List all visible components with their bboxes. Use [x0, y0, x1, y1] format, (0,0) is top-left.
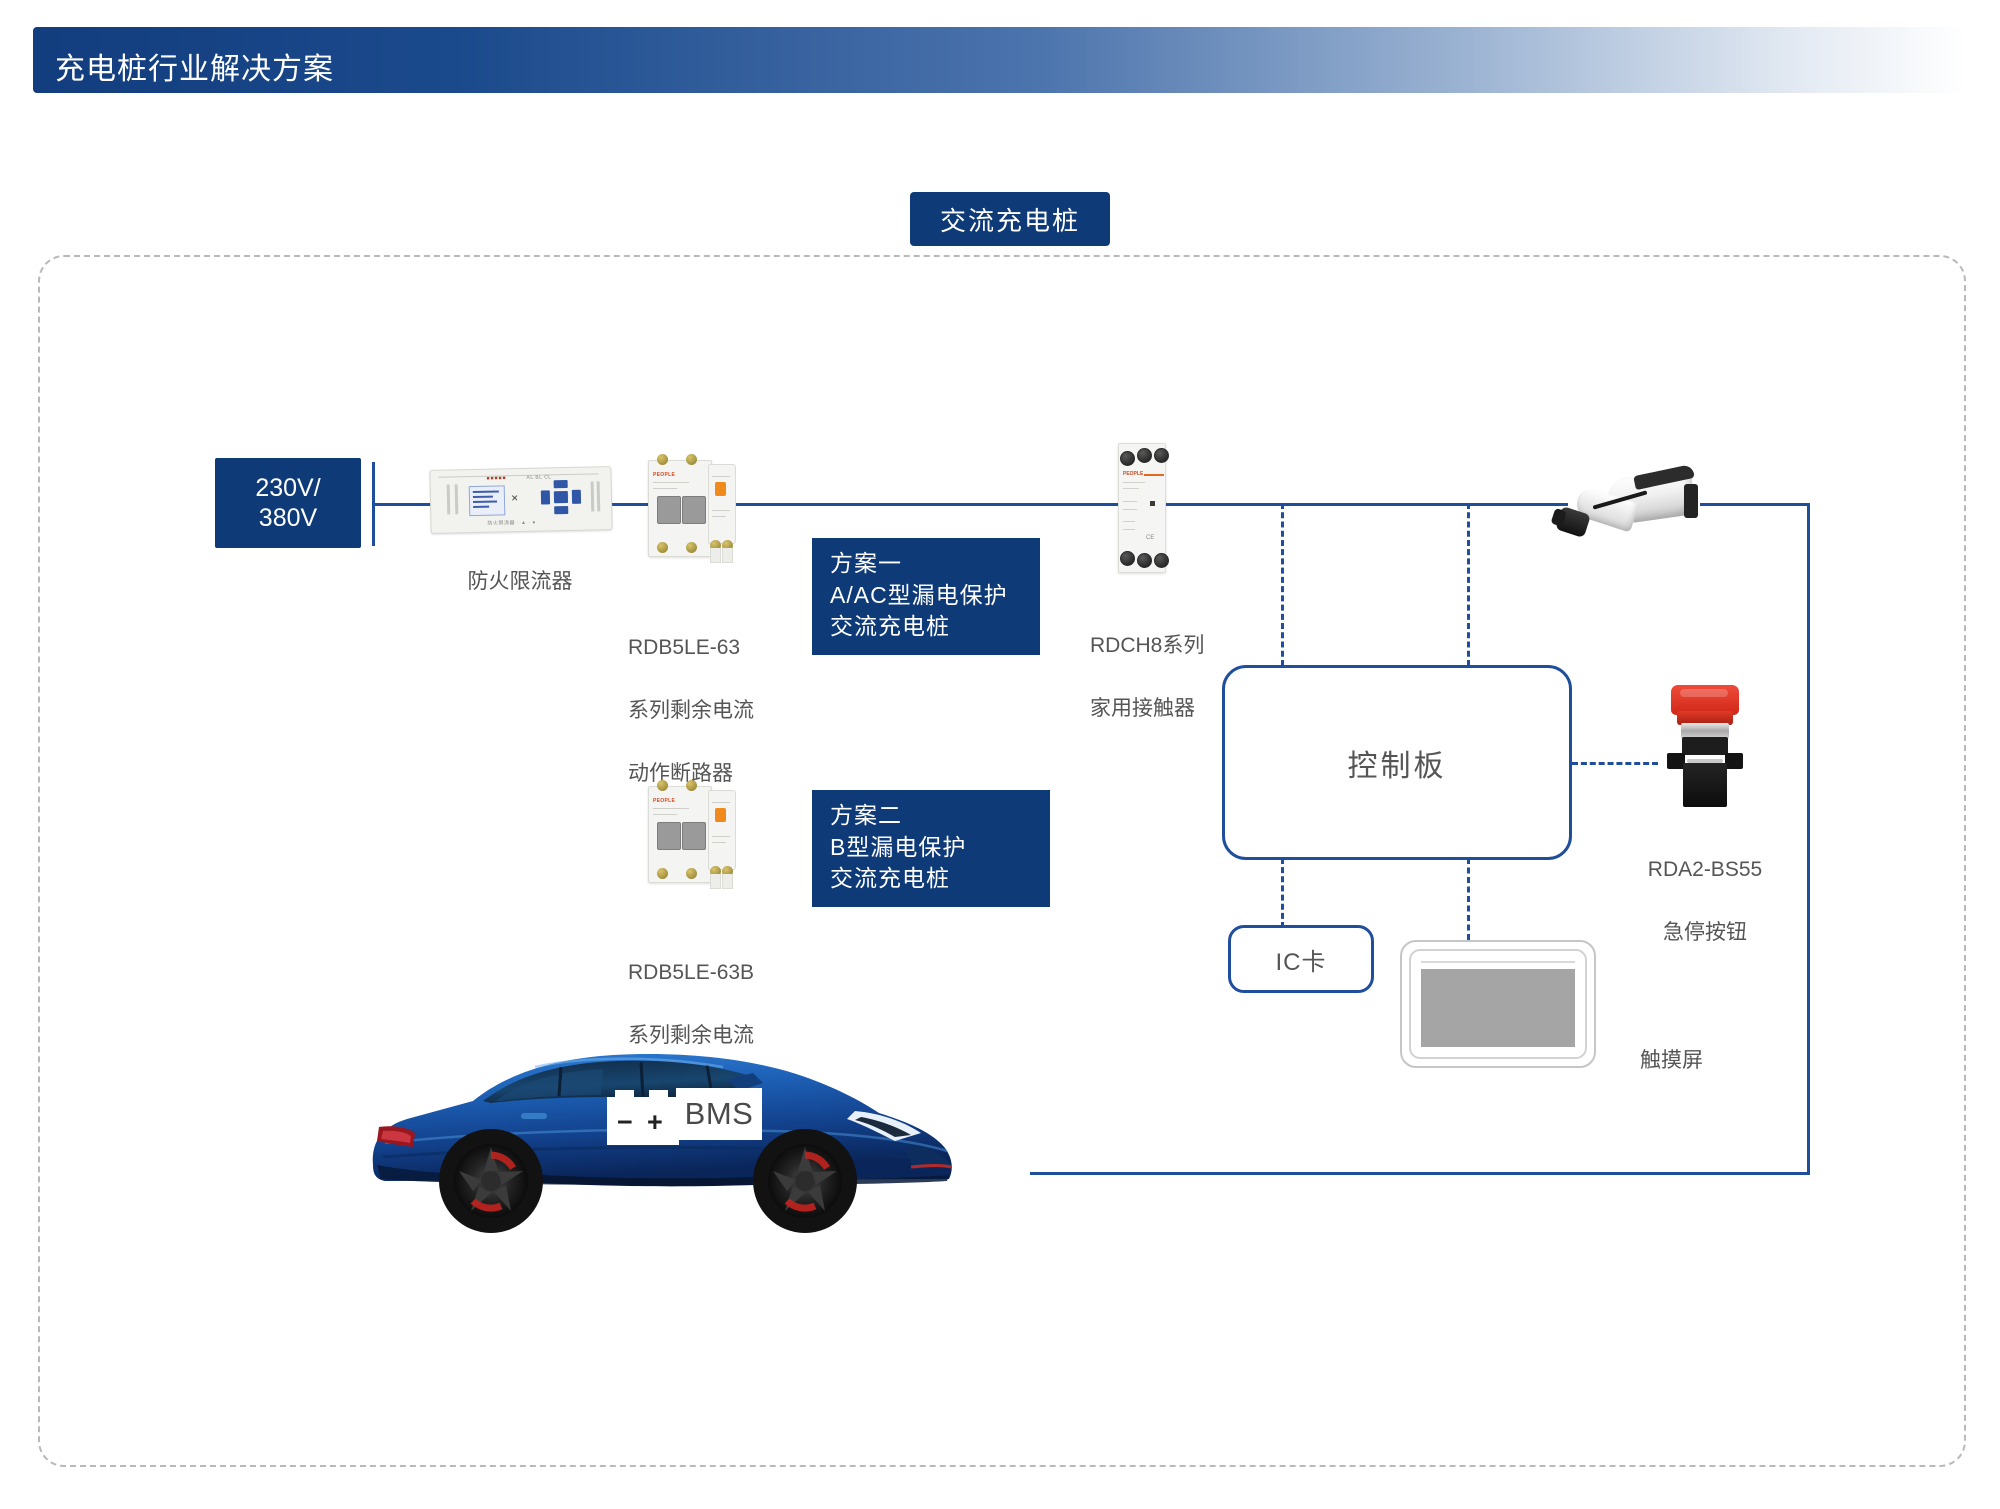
wire-connector-out: [1700, 503, 1810, 506]
power-supply-voltage-box: 230V/ 380V: [215, 458, 361, 548]
wire-to-vehicle: [1030, 1172, 1810, 1175]
contactor-rdch8-device: PEOPLE CE: [1110, 443, 1172, 571]
voltage-line-1: 230V/: [255, 473, 320, 504]
scheme2-line3: 交流充电桩: [830, 863, 1034, 895]
scheme2-line1: 方案二: [830, 800, 1034, 832]
voltage-line-2: 380V: [259, 503, 317, 534]
estop-caption: RDA2-BS55 急停按钮: [1595, 822, 1815, 948]
estop-desc: 急停按钮: [1663, 921, 1747, 944]
fire-limiter-device: ■■■■■ AL BL CL ✕ 防火限流器 · ▲ · ●: [429, 466, 612, 534]
scheme1-line1: 方案一: [830, 548, 1024, 580]
ev-charging-gun-icon: [1556, 468, 1716, 546]
scheme2-line2: B型漏电保护: [830, 832, 1034, 864]
scheme1-line3: 交流充电桩: [830, 611, 1024, 643]
wire-bus-to-control-right: [1467, 503, 1470, 666]
wire-control-to-estop: [1572, 762, 1658, 765]
section-chip-ac-charging-pile: 交流充电桩: [910, 192, 1110, 246]
breaker-rdb5le63-device: PEOPLE: [648, 452, 734, 560]
touchscreen-device: [1400, 940, 1596, 1068]
contactor-desc: 家用接触器: [1090, 697, 1195, 720]
breaker-a-desc1: 系列剩余电流: [628, 699, 754, 722]
battery-plus-sign: +: [647, 1109, 663, 1136]
breaker-rdb5le63b-device: PEOPLE: [648, 778, 734, 886]
scheme-one-callout: 方案一 A/AC型漏电保护 交流充电桩: [812, 538, 1040, 655]
bms-label: BMS: [676, 1088, 762, 1140]
control-board-node: 控制板: [1222, 665, 1572, 860]
contactor-model: RDCH8系列: [1090, 634, 1204, 657]
fire-limiter-caption: 防火限流器: [400, 566, 640, 598]
wire-control-to-ic-card: [1281, 858, 1284, 928]
scheme1-line2: A/AC型漏电保护: [830, 580, 1024, 612]
wire-control-to-touchscreen: [1467, 858, 1470, 940]
estop-model: RDA2-BS55: [1648, 858, 1762, 881]
breaker-b-model: RDB5LE-63B: [628, 961, 754, 984]
touchscreen-caption: 触摸屏: [1640, 1045, 1800, 1077]
breaker-a-model: RDB5LE-63: [628, 636, 740, 659]
emergency-stop-button-device: [1657, 685, 1753, 813]
page-title: 充电桩行业解决方案: [55, 44, 334, 88]
battery-minus-sign: −: [617, 1109, 633, 1136]
battery-icon: − +: [607, 1097, 679, 1145]
diagram-canvas: 充电桩行业解决方案 交流充电桩 230V/ 380V ■■■■■ AL BL C…: [0, 0, 2000, 1509]
scheme-two-callout: 方案二 B型漏电保护 交流充电桩: [812, 790, 1050, 907]
ic-card-node: IC卡: [1228, 925, 1374, 993]
